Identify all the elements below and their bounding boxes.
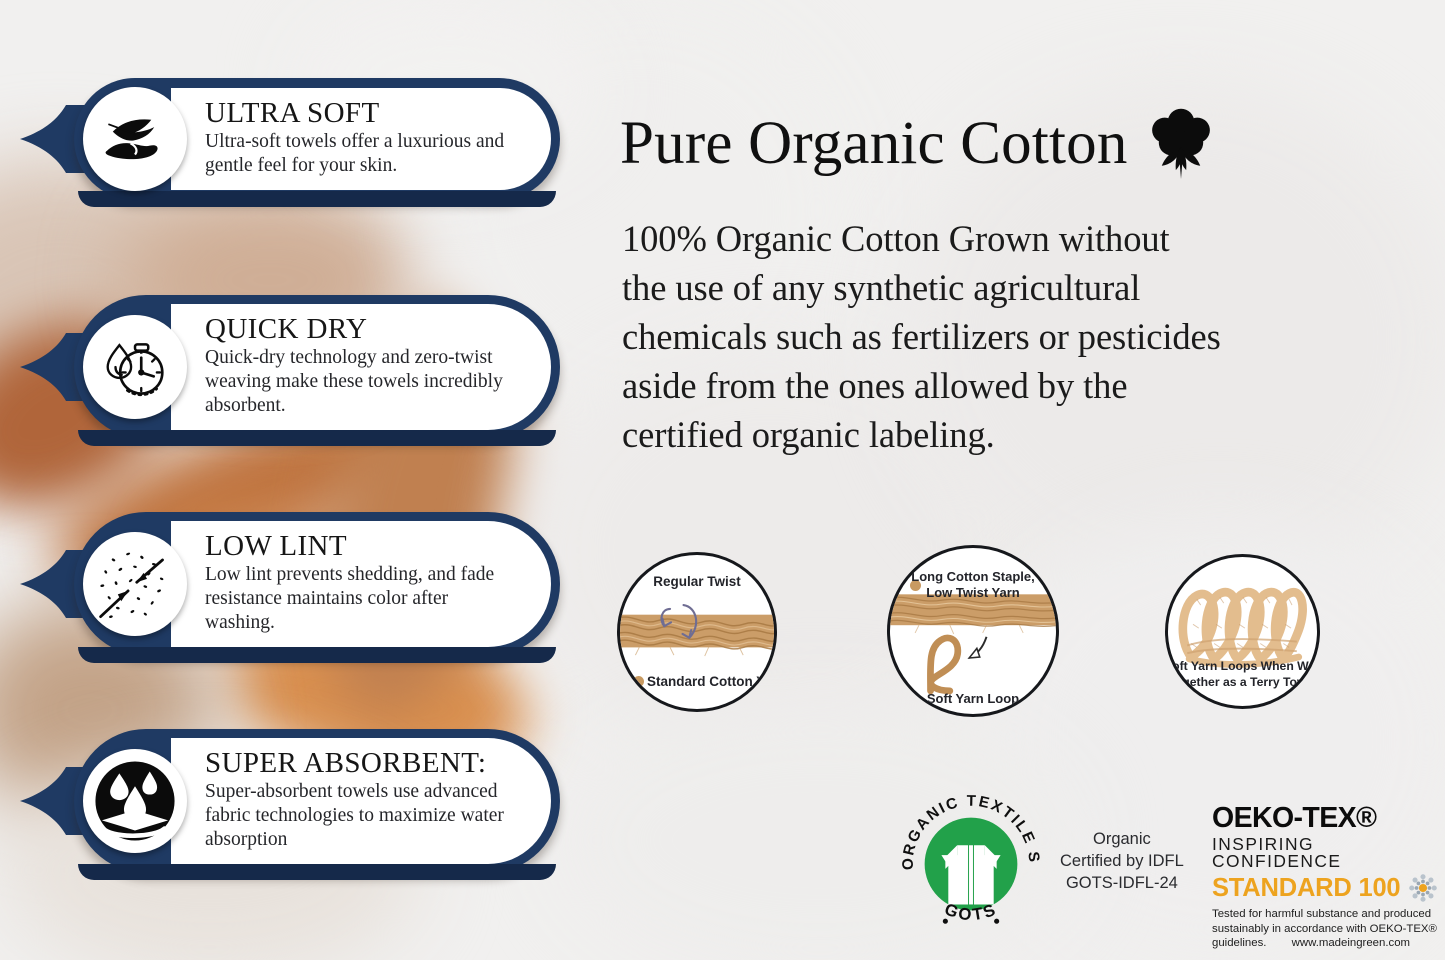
oeko-standard: STANDARD 100 (1212, 876, 1400, 902)
regular-twist-diagram: Regular Twist Standard Cotton Yarn (617, 552, 777, 712)
feature-body: Quick-dry technology and zero-twist weav… (205, 346, 521, 418)
lede-line-1: 100% Organic Cotton Grown without (622, 214, 1422, 263)
water-drop-stopwatch-icon (83, 315, 187, 419)
lede-line-4: aside from the ones allowed by the (622, 361, 1422, 410)
feature-body: Super-absorbent towels use advanced fabr… (205, 780, 521, 852)
water-drops-on-fabric-icon (83, 749, 187, 853)
yarn-top-label-line2: Low Twist Yarn (890, 585, 1056, 600)
feature-title: ULTRA SOFT (205, 98, 521, 129)
feature-badge-low-lint: LOW LINT Low lint prevents shedding, and… (18, 512, 560, 656)
lede-line-2: the use of any synthetic agricultural (622, 263, 1422, 312)
feather-on-hand-icon (83, 87, 187, 191)
oeko-brand: OEKO-TEX® (1212, 804, 1445, 833)
gots-caption: Organic Certified by IDFL GOTS-IDFL-24 (1060, 829, 1184, 895)
feature-title: LOW LINT (205, 531, 521, 562)
yarn-top-label-line1: Long Cotton Staple, (890, 569, 1056, 584)
certifications: GLOBAL ORGANIC TEXTILE STANDARD GOTS Org… (612, 782, 1445, 960)
yarn-bottom-label: Soft Yarn Loop (890, 691, 1056, 706)
terry-towel-loops-diagram: Soft Yarn Loops When Woven Together as a… (1165, 554, 1320, 709)
oeko-fine-print: Tested for harmful substance and produce… (1212, 907, 1445, 950)
gots-caption-line-1: Organic (1060, 829, 1184, 851)
headline: Pure Organic Cotton (620, 104, 1218, 182)
yarn-diagrams: Regular Twist Standard Cotton Yarn (612, 545, 1445, 725)
lede-line-3: chemicals such as fertilizers or pestici… (622, 312, 1422, 361)
page-title: Pure Organic Cotton (620, 113, 1128, 174)
oeko-url: www.madeingreen.com (1292, 936, 1410, 950)
made-in-green-flower-icon (1408, 873, 1438, 903)
lede-paragraph: 100% Organic Cotton Grown without the us… (622, 214, 1422, 459)
oeko-tagline: INSPIRING CONFIDENCE (1212, 836, 1445, 871)
lint-particles-arrows-icon (83, 532, 187, 636)
feature-title: QUICK DRY (205, 314, 521, 345)
feature-badge-super-absorbent: SUPER ABSORBENT: Super-absorbent towels … (18, 729, 560, 873)
feature-badge-quick-dry: QUICK DRY Quick-dry technology and zero-… (18, 295, 560, 439)
oeko-fine-line-3: guidelines. (1212, 937, 1266, 949)
oeko-fine-line-2: sustainably in accordance with OEKO-TEX® (1212, 922, 1445, 936)
oeko-fine-line-1: Tested for harmful substance and produce… (1212, 907, 1445, 921)
oeko-tex-logo: OEKO-TEX® INSPIRING CONFIDENCE STANDARD … (1212, 804, 1445, 950)
low-twist-yarn-diagram: Long Cotton Staple, Low Twist Yarn Soft … (887, 545, 1059, 717)
yarn-top-label: Regular Twist (620, 574, 774, 590)
gots-caption-line-3: GOTS-IDFL-24 (1060, 873, 1184, 895)
lede-line-5: certified organic labeling. (622, 410, 1422, 459)
yarn-bottom-label-line1: Soft Yarn Loops When Woven (1165, 659, 1320, 673)
gots-caption-line-2: Certified by IDFL (1060, 851, 1184, 873)
cotton-boll-icon (1144, 108, 1218, 182)
yarn-bullet-dot (633, 676, 644, 687)
yarn-bottom-label-line2: Together as a Terry Towel (1165, 675, 1320, 689)
feature-body: Ultra-soft towels offer a luxurious and … (205, 130, 521, 178)
feature-body: Low lint prevents shedding, and fade res… (205, 563, 521, 635)
feature-badge-ultra-soft: ULTRA SOFT Ultra-soft towels offer a lux… (18, 78, 560, 200)
feature-title: SUPER ABSORBENT: (205, 748, 521, 779)
gots-logo: GLOBAL ORGANIC TEXTILE STANDARD GOTS (897, 790, 1045, 938)
yarn-bottom-label: Standard Cotton Yarn (647, 674, 777, 690)
